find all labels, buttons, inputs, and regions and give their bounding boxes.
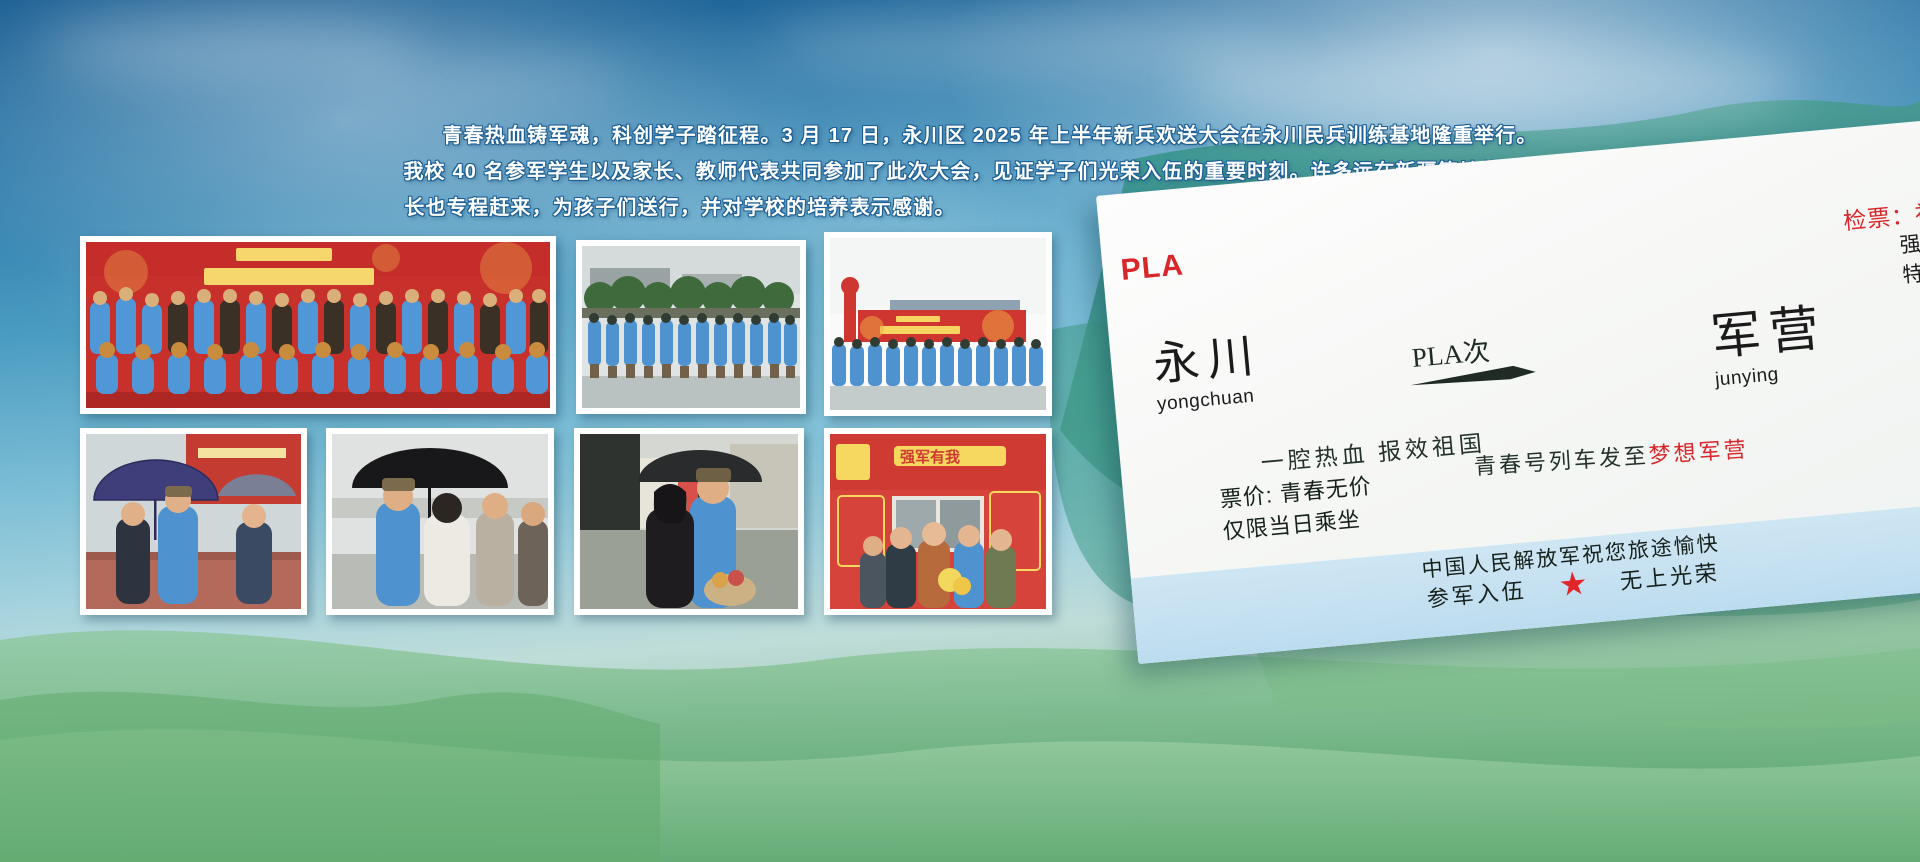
cloud-wisp: [330, 56, 630, 100]
ticket-origin-station: 永川 yongchuan: [1151, 332, 1265, 416]
photo-black-umbrella[interactable]: [326, 428, 554, 615]
destination-station-cn: 军营: [1709, 302, 1829, 362]
svg-text:强军有我: 强军有我: [900, 448, 960, 466]
pla-logo: PLA: [1119, 248, 1185, 288]
origin-station-pinyin: yongchuan: [1156, 385, 1266, 417]
photo-couple-hug[interactable]: [574, 428, 804, 615]
cloud-wisp: [1180, 40, 1800, 130]
route-note-destination: 梦想军营: [1648, 437, 1749, 468]
ticket-destination-station: 军营 junying: [1709, 302, 1832, 391]
photo-group-banner[interactable]: [80, 236, 556, 414]
fare-label: 票价:: [1219, 482, 1274, 512]
photo-red-wall-group[interactable]: 强军有我: [824, 428, 1052, 615]
photo-formation-trees[interactable]: [576, 240, 806, 414]
photo-stage-formation[interactable]: [824, 232, 1052, 416]
ticket-slogan: 一腔热血 报效祖国: [1259, 424, 1487, 478]
ticket-route-note: 青春号列车发至梦想军营: [1473, 432, 1750, 482]
ticket-seat-class: 特等座: [1901, 253, 1920, 289]
ticket-train-name: 强军号: [1898, 223, 1920, 259]
photo-umbrella-family[interactable]: [80, 428, 307, 615]
red-star-icon: [1559, 570, 1587, 598]
origin-station-cn: 永川: [1151, 332, 1263, 388]
train-ticket-card[interactable]: PLA 永川 yongchuan PLA次 军营 junying 检票：祖国 强…: [1096, 116, 1920, 714]
route-note-prefix: 青春号列车发至: [1473, 443, 1649, 479]
